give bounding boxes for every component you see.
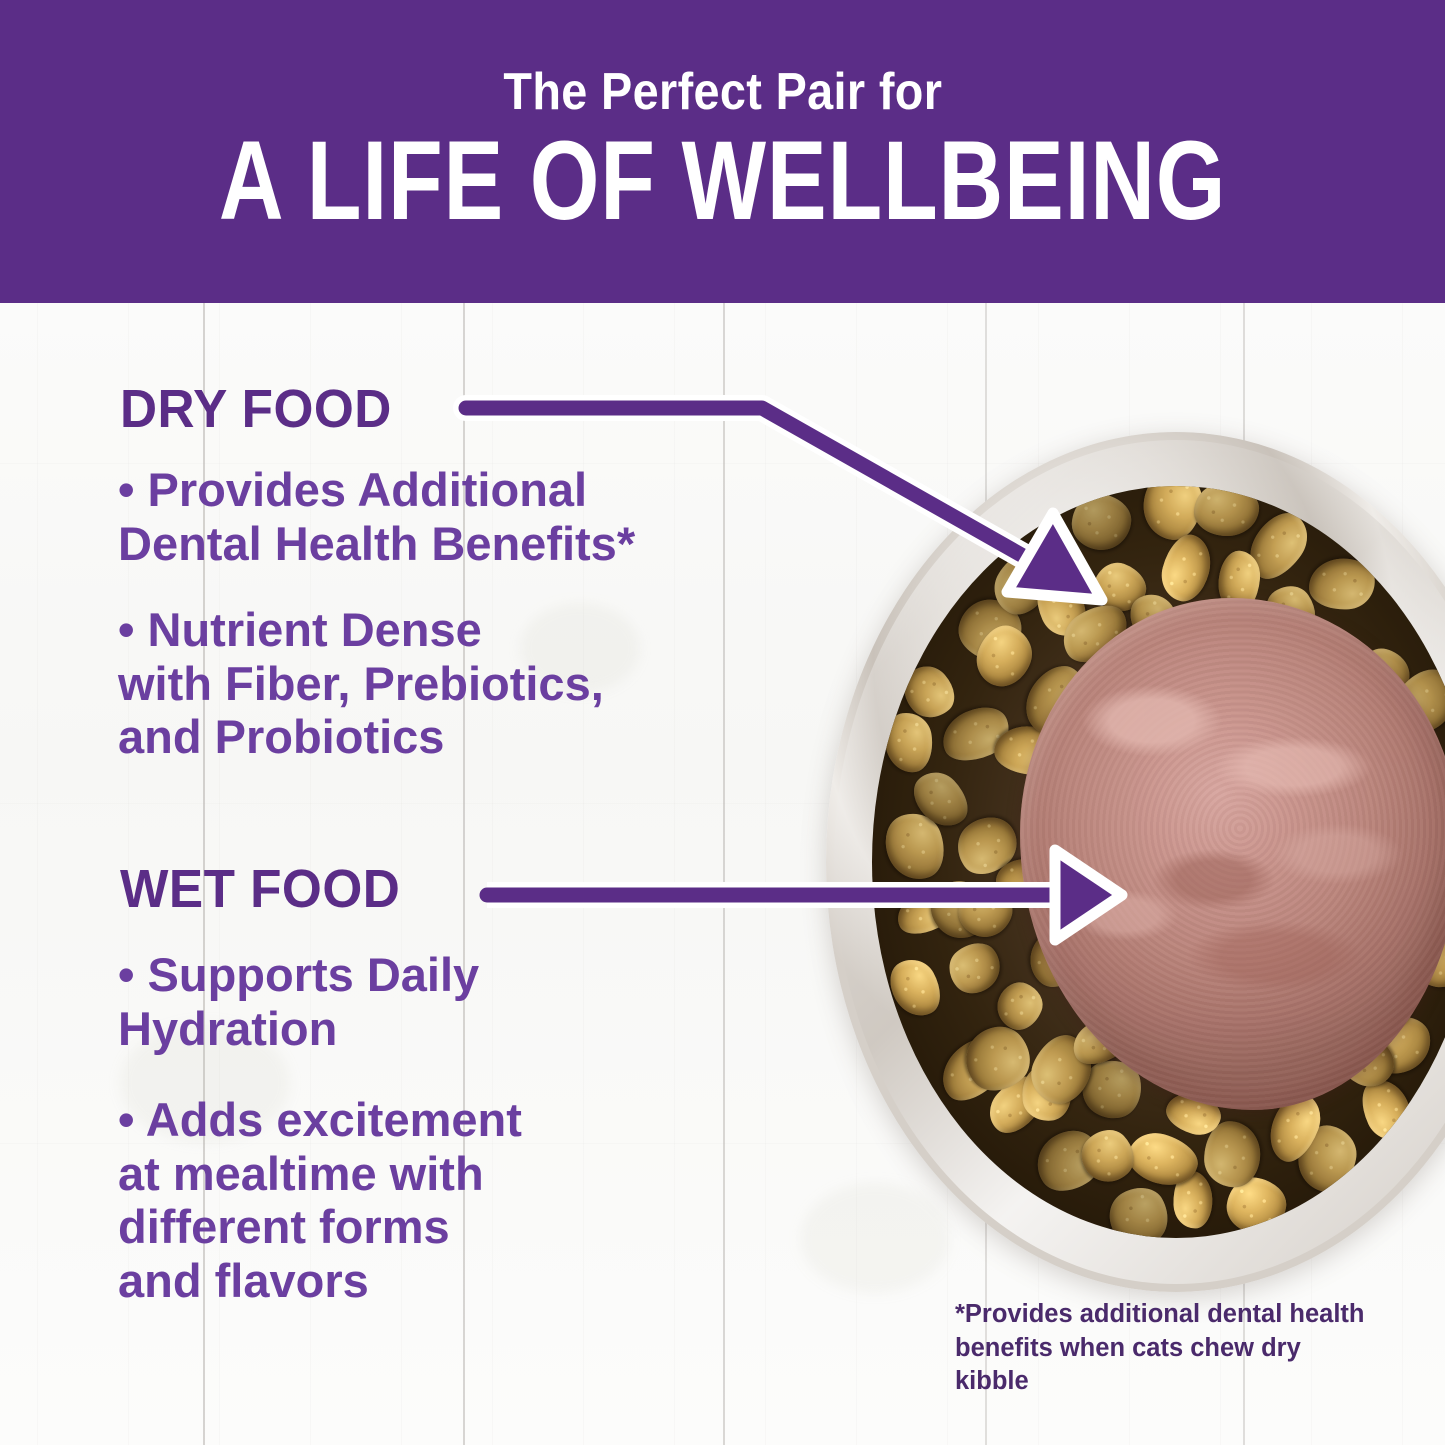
kibble-piece [1155, 529, 1217, 606]
wet-food-bullet-1: • Supports DailyHydration [118, 948, 818, 1055]
infographic-canvas: The Perfect Pair for A LIFE OF WELLBEING… [0, 0, 1445, 1445]
food-bowl-photo [826, 432, 1445, 1292]
dry-food-bullet-1: • Provides AdditionalDental Health Benef… [118, 463, 818, 570]
bullet-line: • Nutrient Dense [118, 603, 818, 657]
benefits-column: DRY FOOD • Provides AdditionalDental Hea… [0, 303, 860, 1445]
kibble-piece [940, 933, 1010, 1003]
footnote-line-2: benefits when cats chew dry kibble [955, 1332, 1375, 1399]
banner-title: A LIFE OF WELLBEING [219, 125, 1226, 237]
bullet-line: Hydration [118, 1002, 818, 1056]
header-banner: The Perfect Pair for A LIFE OF WELLBEING [0, 0, 1445, 303]
bullet-line: • Adds excitement [118, 1093, 818, 1147]
bullet-line: with Fiber, Prebiotics, [118, 657, 818, 711]
bullet-line: and flavors [118, 1254, 818, 1308]
dental-benefits-footnote: *Provides additional dental health benef… [955, 1298, 1375, 1399]
bullet-line: Dental Health Benefits* [118, 517, 818, 571]
bowl-interior [872, 486, 1445, 1238]
wet-food-bullet-2: • Adds excitementat mealtime withdiffere… [118, 1093, 818, 1307]
dry-food-bullet-2: • Nutrient Densewith Fiber, Prebiotics,a… [118, 603, 818, 764]
kibble-piece [1193, 486, 1260, 538]
kibble-piece [1307, 556, 1376, 611]
bullet-line: different forms [118, 1200, 818, 1254]
dry-food-heading: DRY FOOD [120, 378, 392, 440]
bullet-line: at mealtime with [118, 1147, 818, 1201]
kibble-piece [1204, 1121, 1260, 1187]
footnote-line-1: *Provides additional dental health [955, 1298, 1375, 1332]
banner-subtitle: The Perfect Pair for [503, 66, 942, 119]
bullet-line: and Probiotics [118, 710, 818, 764]
bullet-line: • Provides Additional [118, 463, 818, 517]
bullet-line: • Supports Daily [118, 948, 818, 1002]
wet-food-heading: WET FOOD [120, 858, 400, 920]
kibble-piece [1100, 1178, 1179, 1238]
